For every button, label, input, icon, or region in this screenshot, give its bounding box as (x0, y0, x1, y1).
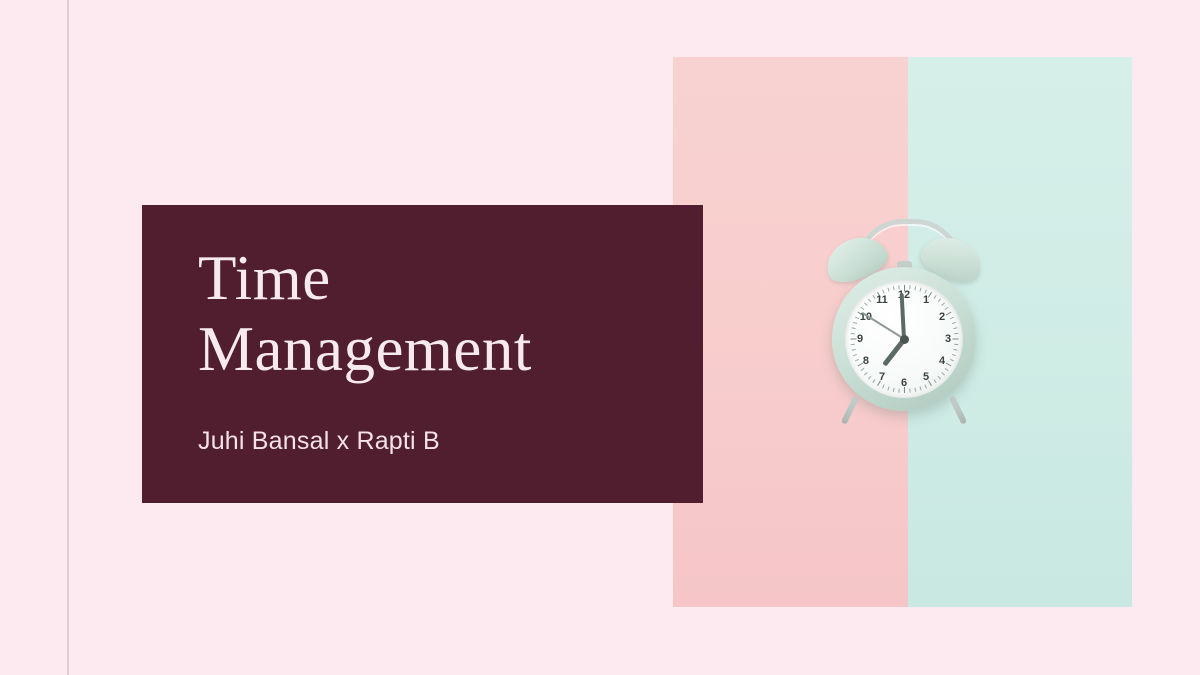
clock-tick (945, 307, 949, 310)
clock-center-pin (900, 335, 909, 344)
clock-tick (893, 286, 895, 290)
clock-tick (919, 386, 921, 390)
clock-tick (945, 368, 949, 371)
clock-tick (868, 376, 871, 380)
alarm-clock-photo: 123456789101112 (673, 57, 1132, 607)
clock-tick (852, 327, 856, 329)
clock-numeral-6: 6 (896, 378, 912, 389)
presentation-slide: 123456789101112 Time Management Juhi Ban… (0, 0, 1200, 675)
clock-tick (882, 384, 885, 388)
clock-tick (924, 289, 927, 293)
clock-tick (919, 287, 921, 291)
clock-tick (952, 322, 956, 324)
clock-numeral-1: 1 (918, 295, 934, 306)
clock-tick (941, 302, 945, 305)
clock-tick (924, 384, 927, 388)
clock-tick (887, 287, 889, 291)
clock-tick (953, 349, 957, 351)
clock-numeral-11: 11 (874, 295, 890, 306)
clock-tick (938, 299, 941, 303)
clock-numeral-4: 4 (934, 356, 950, 367)
clock-tick (898, 389, 899, 393)
clock-numeral-5: 5 (918, 372, 934, 383)
clock-numeral-8: 8 (858, 356, 874, 367)
clock-tick (852, 349, 856, 351)
clock-tick (893, 388, 895, 392)
clock-tick (909, 389, 910, 393)
clock-numeral-7: 7 (874, 372, 890, 383)
clock-tick (864, 302, 868, 305)
clock-tick (868, 299, 871, 303)
clock-tick (853, 322, 857, 324)
clock-numeral-3: 3 (940, 334, 956, 345)
clock-foot-left (841, 395, 860, 425)
title-card: Time Management Juhi Bansal x Rapti B (142, 205, 703, 503)
clock-tick (938, 376, 941, 380)
clock-tick (853, 354, 857, 356)
clock-tick (941, 372, 945, 375)
clock-numeral-12: 12 (896, 290, 912, 301)
clock-tick (864, 372, 868, 375)
clock-tick (953, 327, 957, 329)
page-title: Time Management (198, 243, 668, 385)
clock-face: 123456789101112 (845, 280, 963, 398)
alarm-clock: 123456789101112 (819, 217, 989, 427)
clock-case: 123456789101112 (832, 267, 976, 411)
left-margin-rule (67, 0, 69, 675)
clock-tick (861, 368, 865, 371)
clock-foot-right (949, 395, 968, 425)
clock-tick (950, 317, 954, 320)
clock-tick (952, 354, 956, 356)
clock-tick (882, 289, 885, 293)
clock-numeral-9: 9 (852, 334, 868, 345)
clock-second-hand (862, 312, 904, 339)
clock-tick (861, 307, 865, 310)
clock-tick (887, 386, 889, 390)
clock-tick (914, 388, 916, 392)
author-byline: Juhi Bansal x Rapti B (198, 427, 440, 456)
clock-tick (914, 286, 916, 290)
clock-numeral-2: 2 (934, 312, 950, 323)
clock-tick (950, 359, 954, 362)
